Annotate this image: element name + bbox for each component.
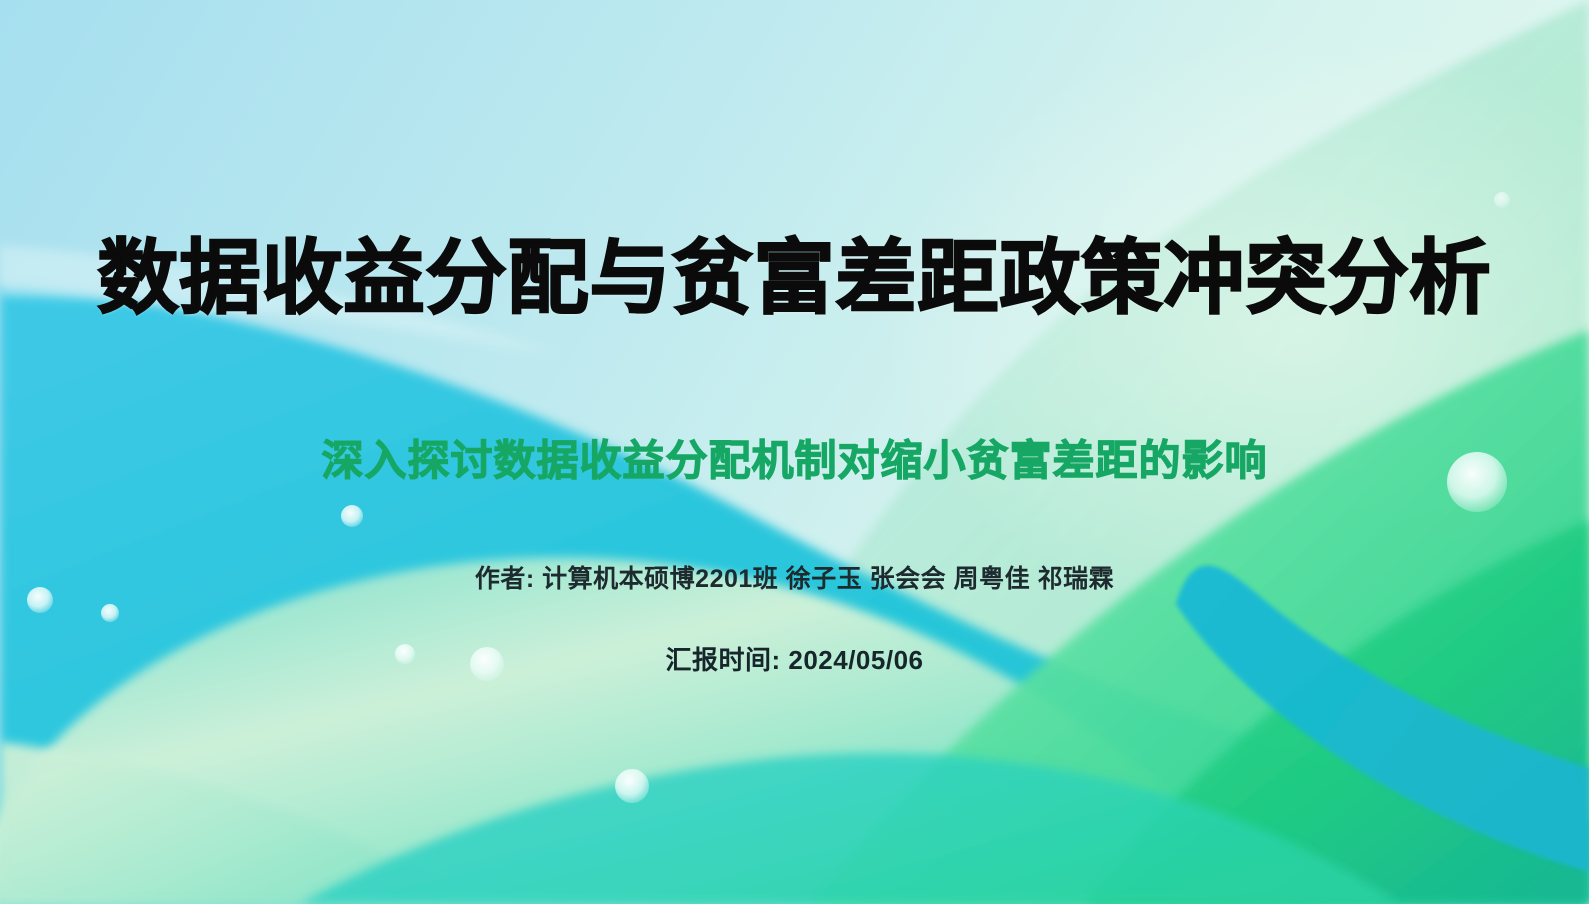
slide-content: 数据收益分配与贫富差距政策冲突分析 深入探讨数据收益分配机制对缩小贫富差距的影响… [0, 0, 1589, 904]
slide-subtitle: 深入探讨数据收益分配机制对缩小贫富差距的影响 [0, 437, 1589, 484]
page-title: 数据收益分配与贫富差距政策冲突分析 [0, 236, 1589, 323]
report-date-line: 汇报时间: 2024/05/06 [0, 640, 1589, 677]
authors-line: 作者: 计算机本硕博2201班 徐子玉 张会会 周粤佳 祁瑞霖 [0, 559, 1589, 595]
title-slide: 数据收益分配与贫富差距政策冲突分析 深入探讨数据收益分配机制对缩小贫富差距的影响… [0, 0, 1589, 904]
